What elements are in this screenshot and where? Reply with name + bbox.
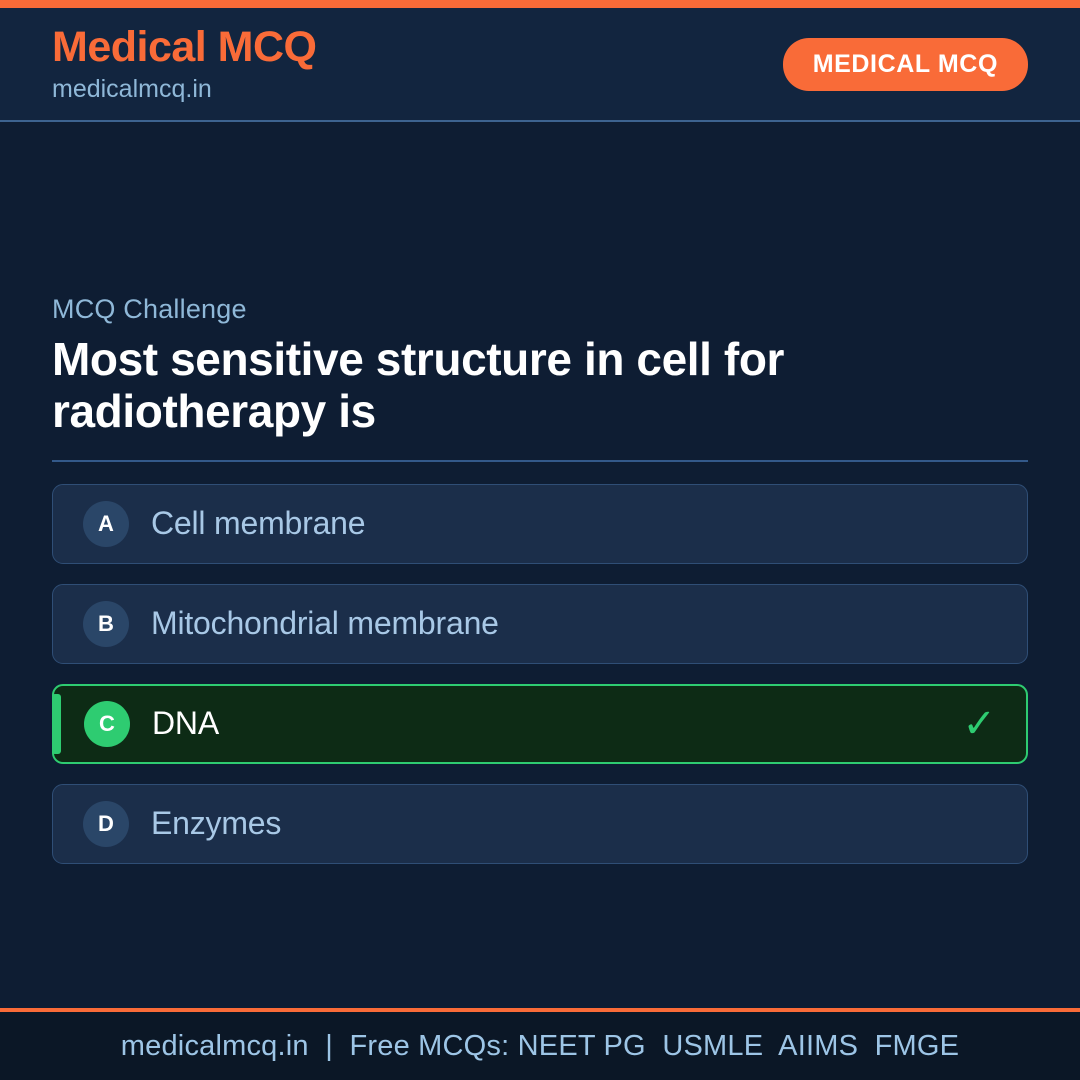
option-b[interactable]: B Mitochondrial membrane ✓: [52, 584, 1028, 664]
option-letter-badge: D: [83, 801, 129, 847]
main-content: MCQ Challenge Most sensitive structure i…: [0, 122, 1080, 1008]
option-a[interactable]: A Cell membrane ✓: [52, 484, 1028, 564]
top-accent-bar: [0, 0, 1080, 8]
check-icon: ✓: [962, 704, 996, 744]
question-block: MCQ Challenge Most sensitive structure i…: [52, 294, 1028, 438]
page-footer: medicalmcq.in | Free MCQs: NEET PG USMLE…: [0, 1008, 1080, 1080]
option-label: Enzymes: [151, 805, 963, 842]
brand-block: Medical MCQ medicalmcq.in: [52, 26, 317, 102]
header-badge: MEDICAL MCQ: [783, 38, 1028, 91]
option-label: Cell membrane: [151, 505, 963, 542]
option-d[interactable]: D Enzymes ✓: [52, 784, 1028, 864]
brand-url: medicalmcq.in: [52, 77, 317, 102]
question-text: Most sensitive structure in cell for rad…: [52, 333, 982, 438]
mcq-card: Medical MCQ medicalmcq.in MEDICAL MCQ MC…: [0, 0, 1080, 1080]
option-c[interactable]: C DNA ✓: [52, 684, 1028, 764]
option-letter-badge: B: [83, 601, 129, 647]
option-letter-badge: C: [84, 701, 130, 747]
brand-title: Medical MCQ: [52, 26, 317, 69]
question-divider: [52, 460, 1028, 462]
option-label: Mitochondrial membrane: [151, 605, 963, 642]
eyebrow-label: MCQ Challenge: [52, 294, 1028, 325]
page-header: Medical MCQ medicalmcq.in MEDICAL MCQ: [0, 8, 1080, 122]
footer-text: medicalmcq.in | Free MCQs: NEET PG USMLE…: [121, 1030, 959, 1063]
option-letter-badge: A: [83, 501, 129, 547]
options-list: A Cell membrane ✓ B Mitochondrial membra…: [52, 484, 1028, 864]
correct-accent-bar: [54, 694, 61, 754]
option-label: DNA: [152, 705, 962, 742]
